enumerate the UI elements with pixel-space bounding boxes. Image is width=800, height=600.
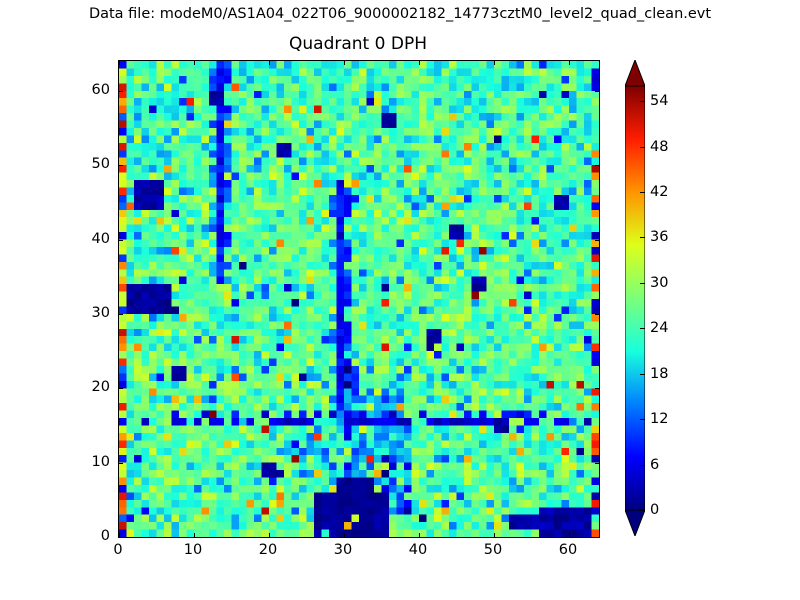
y-tick	[119, 537, 123, 538]
x-tick	[569, 533, 570, 537]
colorbar-tick	[640, 237, 645, 238]
x-tick	[269, 61, 270, 65]
x-tick	[344, 61, 345, 65]
colorbar-ticklabel: 12	[650, 411, 668, 427]
x-tick	[494, 61, 495, 65]
x-tick	[269, 533, 270, 537]
y-ticklabel: 60	[70, 82, 110, 98]
colorbar-ticklabel: 42	[650, 184, 668, 200]
x-tick	[194, 61, 195, 65]
y-tick	[595, 463, 599, 464]
colorbar-tick	[640, 328, 645, 329]
y-tick	[119, 240, 123, 241]
y-tick	[595, 388, 599, 389]
x-ticklabel: 0	[98, 542, 138, 558]
y-ticklabel: 50	[70, 156, 110, 172]
x-ticklabel: 20	[248, 542, 288, 558]
colorbar-ticklabel: 48	[650, 139, 668, 155]
colorbar-tick	[640, 510, 645, 511]
colorbar-ticklabel: 24	[650, 320, 668, 336]
figure-canvas: Data file: modeM0/AS1A04_022T06_90000021…	[0, 0, 800, 600]
y-tick	[595, 165, 599, 166]
colorbar-tick	[640, 192, 645, 193]
y-ticklabel: 10	[70, 454, 110, 470]
colorbar-ticklabel: 54	[650, 93, 668, 109]
colorbar-tick	[640, 465, 645, 466]
x-tick	[419, 533, 420, 537]
colorbar-tick	[640, 101, 645, 102]
x-tick	[344, 533, 345, 537]
colorbar-ticklabel: 18	[650, 366, 668, 382]
x-ticklabel: 30	[323, 542, 363, 558]
x-ticklabel: 10	[173, 542, 213, 558]
x-tick	[569, 61, 570, 65]
y-ticklabel: 40	[70, 231, 110, 247]
x-ticklabel: 60	[548, 542, 588, 558]
y-ticklabel: 20	[70, 379, 110, 395]
y-tick	[595, 240, 599, 241]
y-tick	[119, 314, 123, 315]
colorbar-ticklabel: 30	[650, 275, 668, 291]
y-ticklabel: 0	[70, 528, 110, 544]
data-file-suptitle: Data file: modeM0/AS1A04_022T06_90000021…	[0, 4, 800, 24]
colorbar-ticklabel: 6	[650, 457, 659, 473]
x-tick	[194, 533, 195, 537]
x-ticklabel: 50	[473, 542, 513, 558]
colorbar-tick	[640, 147, 645, 148]
colorbar-ticklabel: 0	[650, 502, 659, 518]
colorbar-tick	[640, 283, 645, 284]
y-tick	[595, 314, 599, 315]
colorbar-tick	[640, 419, 645, 420]
colorbar-tick	[640, 374, 645, 375]
y-tick	[595, 91, 599, 92]
y-tick	[119, 388, 123, 389]
colorbar[interactable]	[625, 60, 645, 536]
y-tick	[595, 537, 599, 538]
colorbar-ticklabel: 36	[650, 229, 668, 245]
x-tick	[494, 533, 495, 537]
y-tick	[119, 91, 123, 92]
x-tick	[419, 61, 420, 65]
y-ticklabel: 30	[70, 305, 110, 321]
detector-plane-histogram-image[interactable]	[119, 61, 599, 537]
y-tick	[119, 463, 123, 464]
x-ticklabel: 40	[398, 542, 438, 558]
x-tick	[119, 61, 120, 65]
y-tick	[119, 165, 123, 166]
detector-heatmap-axes[interactable]	[118, 60, 600, 538]
page-title: Quadrant 0 DPH	[118, 33, 598, 55]
